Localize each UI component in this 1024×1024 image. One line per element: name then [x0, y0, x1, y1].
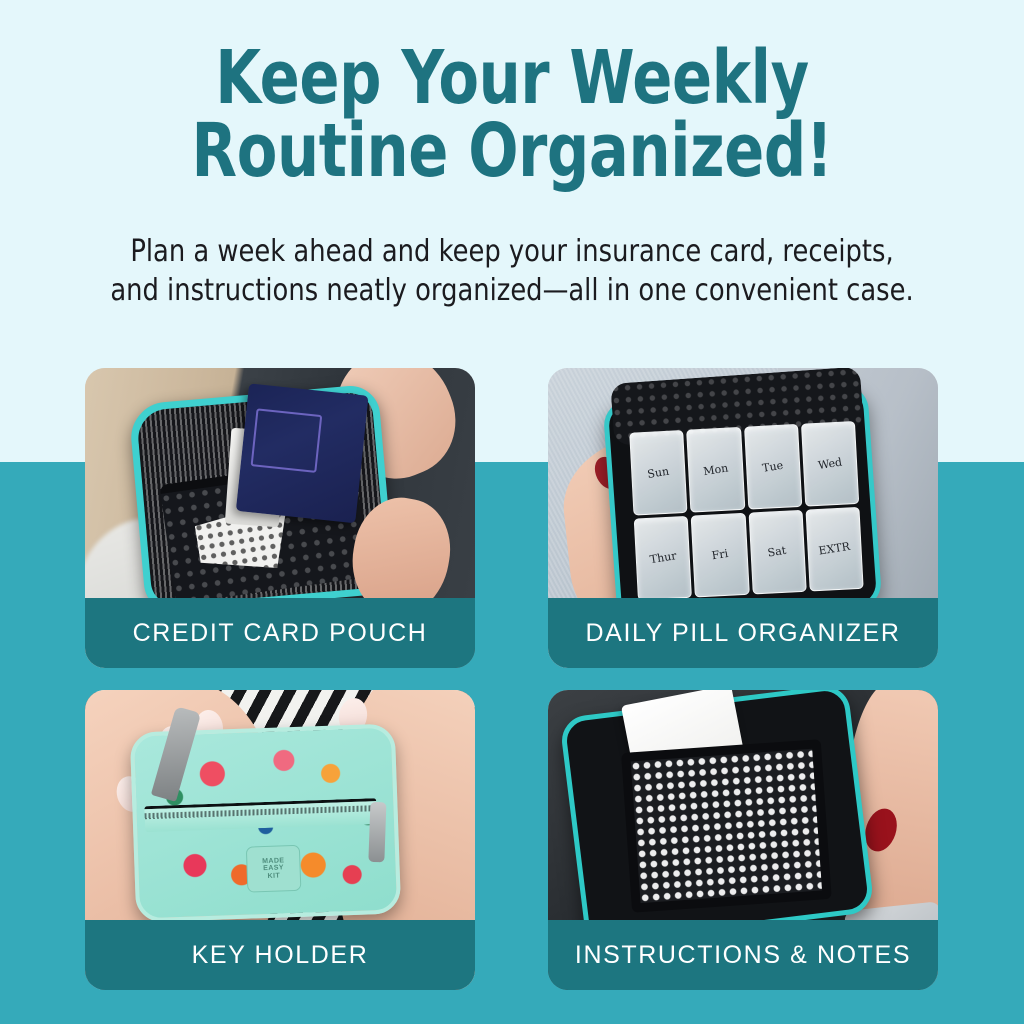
pill-compartment-label: Sun — [647, 464, 670, 480]
product-infographic-poster: Keep Your Weekly Routine Organized! Plan… — [0, 0, 1024, 1024]
feature-card-daily-pill-organizer[interactable]: Sun Mon Tue Wed Thur Fri Sat EXTR DAILY … — [548, 368, 938, 668]
pill-compartment-label: Fri — [711, 547, 729, 562]
page-headline: Keep Your Weekly Routine Organized! — [102, 42, 921, 187]
zipper-pull-shape — [368, 802, 386, 863]
card-caption: DAILY PILL ORGANIZER — [586, 619, 901, 648]
zip-case-shape — [559, 690, 875, 947]
pill-compartment-mon: Mon — [686, 427, 744, 512]
brand-tag-line: KIT — [267, 872, 280, 880]
page-subheadline: Plan a week ahead and keep your insuranc… — [72, 232, 953, 310]
card-caption: INSTRUCTIONS & NOTES — [575, 941, 911, 970]
white-mesh-pocket-shape — [621, 739, 832, 913]
pill-compartment-wed: Wed — [801, 421, 859, 506]
caption-bar: DAILY PILL ORGANIZER — [548, 598, 938, 668]
caption-bar: KEY HOLDER — [85, 920, 475, 990]
pill-compartment-label: Tue — [761, 458, 784, 474]
pill-compartment-fri: Fri — [691, 512, 749, 597]
pill-compartment-label: Mon — [702, 461, 729, 478]
navy-credit-card-shape — [236, 383, 369, 523]
pill-compartment-tue: Tue — [744, 424, 802, 509]
pill-compartment-label: EXTR — [818, 540, 851, 558]
pill-compartment-extra: EXTR — [805, 506, 863, 591]
card-caption: CREDIT CARD POUCH — [133, 619, 428, 648]
feature-card-credit-card-pouch[interactable]: CREDIT CARD POUCH — [85, 368, 475, 668]
pill-compartment-label: Sat — [767, 544, 787, 560]
pill-compartment-label: Thur — [649, 549, 677, 566]
brand-tag: MADE EASY KIT — [246, 845, 302, 893]
caption-bar: CREDIT CARD POUCH — [85, 598, 475, 668]
zip-case-shape: Sun Mon Tue Wed Thur Fri Sat EXTR — [602, 383, 882, 626]
pill-compartment-sat: Sat — [748, 509, 806, 594]
feature-card-instructions-and-notes[interactable]: INSTRUCTIONS & NOTES — [548, 690, 938, 990]
feature-card-key-holder[interactable]: MADE EASY KIT KEY HOLDER — [85, 690, 475, 990]
pill-compartment-label: Wed — [817, 455, 843, 472]
pill-tray: Sun Mon Tue Wed Thur Fri Sat EXTR — [629, 421, 863, 601]
pill-compartment-sun: Sun — [629, 430, 687, 515]
pill-compartment-thur: Thur — [634, 515, 692, 600]
caption-bar: INSTRUCTIONS & NOTES — [548, 920, 938, 990]
card-caption: KEY HOLDER — [192, 941, 369, 970]
front-zipper-shape — [144, 798, 377, 832]
